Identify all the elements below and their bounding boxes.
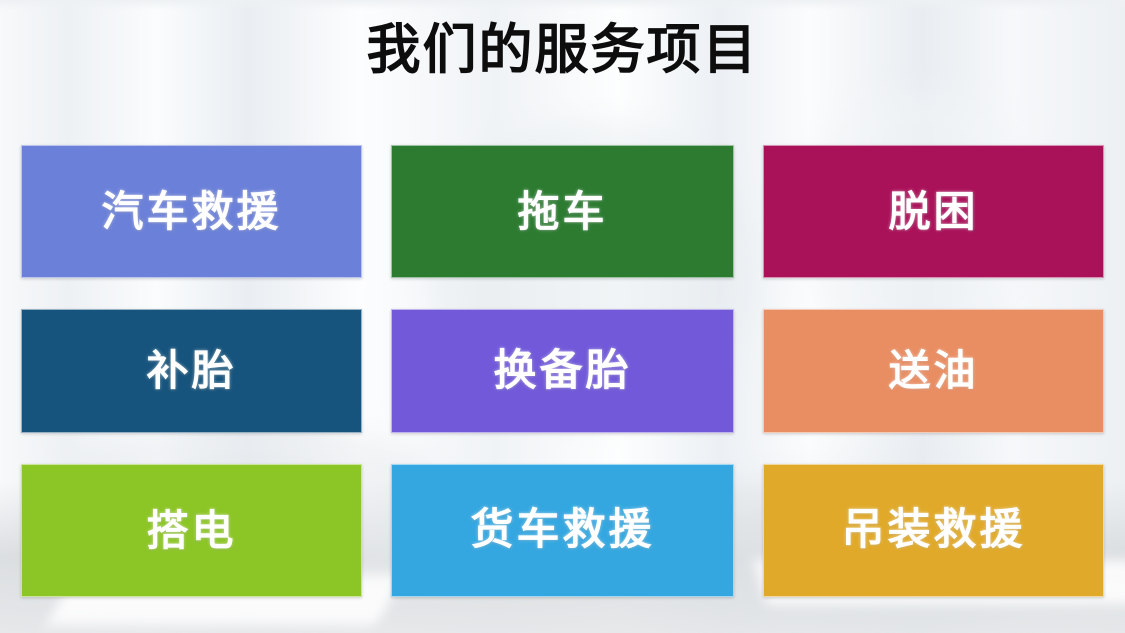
service-tile-label: 货车救援 <box>471 509 655 552</box>
service-tile-fuel-delivery[interactable]: 送油 <box>763 309 1104 433</box>
service-tile-label: 换备胎 <box>494 350 632 393</box>
service-tile-crane-rescue[interactable]: 吊装救援 <box>763 464 1104 597</box>
service-tile-label: 脱困 <box>888 191 978 233</box>
service-tile-extraction[interactable]: 脱困 <box>763 145 1104 278</box>
service-tile-label: 送油 <box>888 350 978 392</box>
service-tile-label: 汽车救援 <box>101 191 281 233</box>
page-title: 我们的服务项目 <box>0 22 1125 79</box>
service-tile-label: 搭电 <box>146 510 236 552</box>
service-tile-tire-repair[interactable]: 补胎 <box>21 309 362 433</box>
service-tile-label: 吊装救援 <box>842 509 1026 552</box>
service-tile-label: 补胎 <box>146 350 236 392</box>
service-tile-jump-start[interactable]: 搭电 <box>21 464 362 597</box>
service-tile-truck-rescue[interactable]: 货车救援 <box>391 464 734 597</box>
service-grid: 汽车救援 拖车 脱困 补胎 换备胎 送油 搭电 货车救援 吊装救援 <box>21 145 1104 597</box>
service-tile-spare-tire-change[interactable]: 换备胎 <box>391 309 734 433</box>
service-poster: 我们的服务项目 汽车救援 拖车 脱困 补胎 换备胎 送油 搭电 货车救援 吊装救… <box>0 0 1125 633</box>
service-tile-roadside-assistance[interactable]: 汽车救援 <box>21 145 362 278</box>
service-tile-towing[interactable]: 拖车 <box>391 145 734 278</box>
service-tile-label: 拖车 <box>517 191 607 233</box>
